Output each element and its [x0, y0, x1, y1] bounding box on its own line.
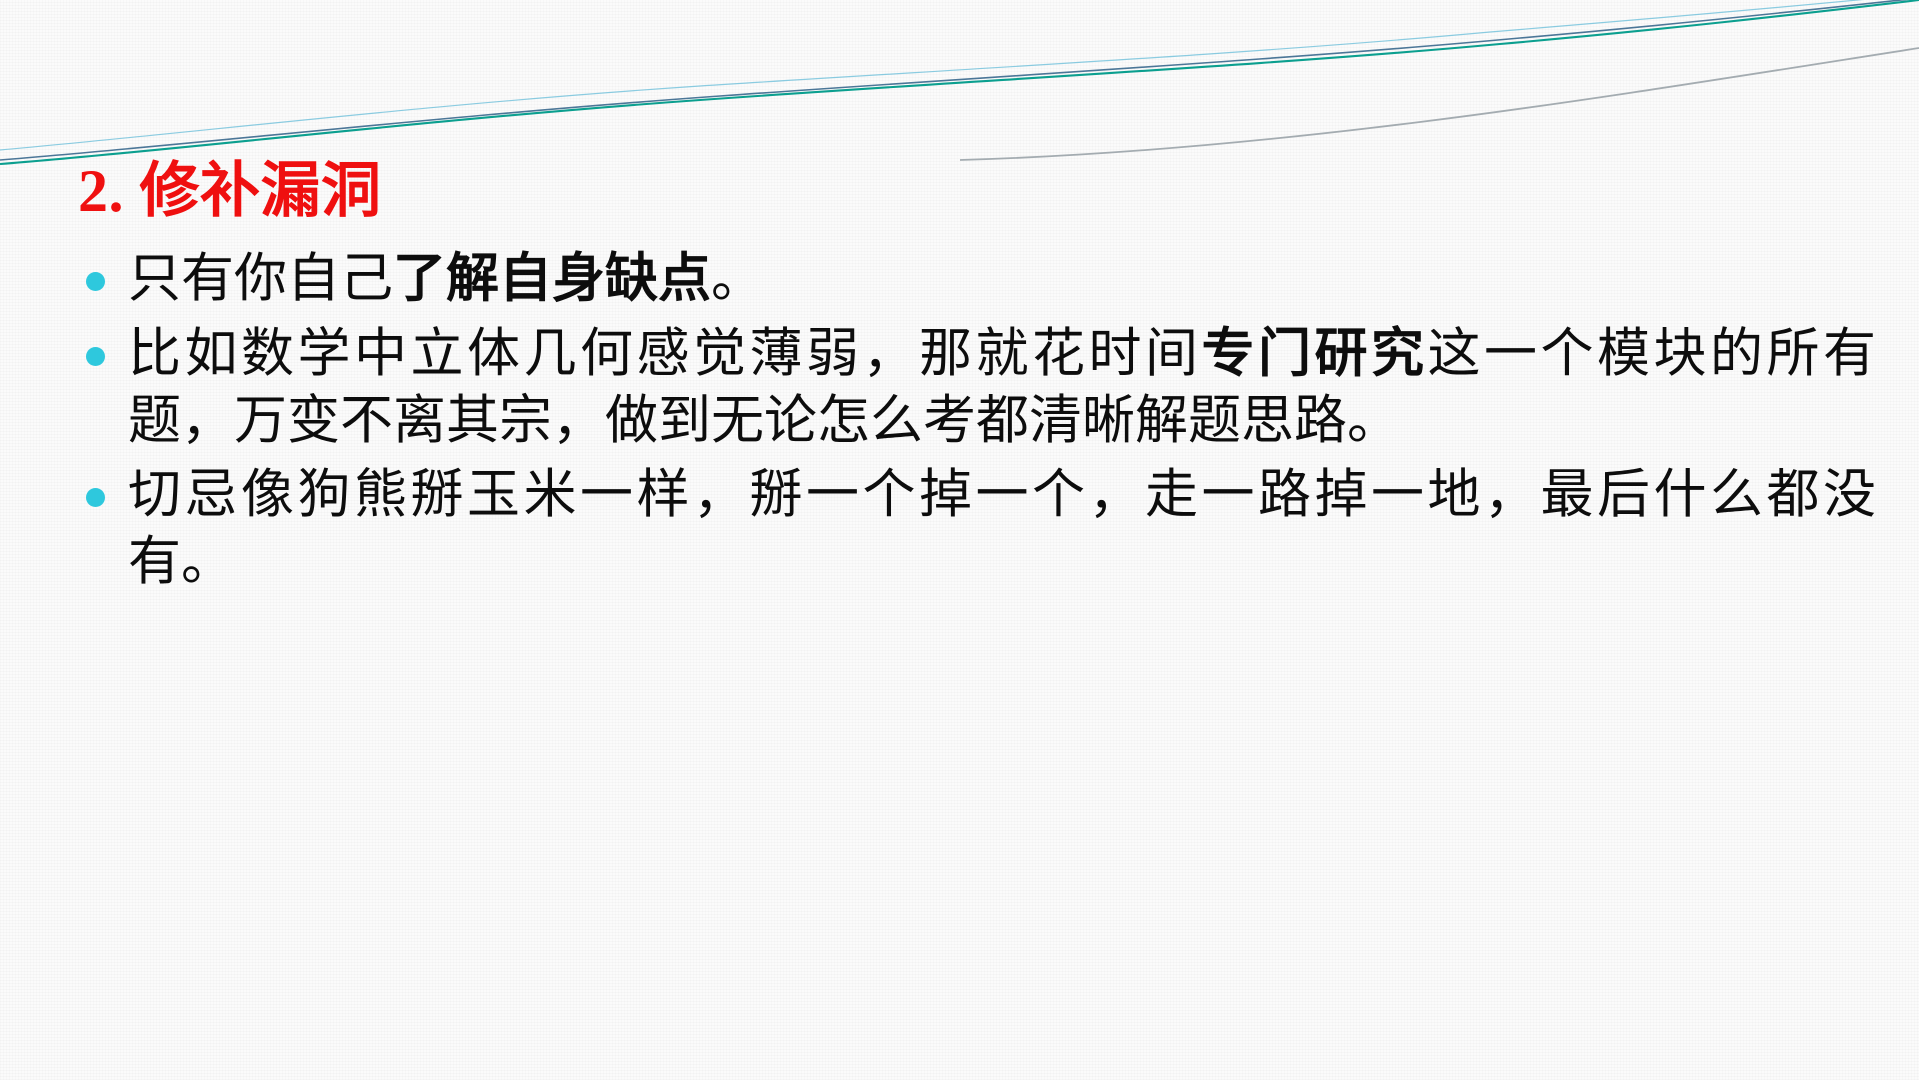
bullet-list: 只有你自己了解自身缺点。 比如数学中立体几何感觉薄弱，那就花时间专门研究这一个模… [86, 246, 1876, 596]
text-run: 只有你自己 [128, 250, 393, 308]
bullet-dot-icon [86, 347, 105, 366]
wave-line-grey [960, 48, 1919, 160]
title-block: 2. 修补漏洞 [78, 158, 1838, 225]
emphasis-run: 专门研究 [1202, 325, 1428, 383]
wave-line-navy [0, 0, 1919, 160]
list-item: 比如数学中立体几何感觉薄弱，那就花时间专门研究这一个模块的所有题，万变不离其宗，… [86, 321, 1876, 455]
wave-band-main [0, 0, 1919, 125]
list-item: 只有你自己了解自身缺点。 [86, 246, 1876, 313]
list-item: 切忌像狗熊掰玉米一样，掰一个掉一个，走一路掉一地，最后什么都没有。 [86, 462, 1876, 596]
slide-canvas: 2. 修补漏洞 只有你自己了解自身缺点。 比如数学中立体几何感觉薄弱，那就花时间… [0, 0, 1919, 1080]
bullet-marker [86, 321, 128, 366]
wave-band-secondary [1120, 0, 1919, 120]
bullet-dot-icon [86, 272, 105, 291]
bullet-marker [86, 462, 128, 507]
header-wave-decoration [0, 0, 1919, 165]
page-title: 2. 修补漏洞 [78, 158, 1838, 225]
bullet-text: 切忌像狗熊掰玉米一样，掰一个掉一个，走一路掉一地，最后什么都没有。 [128, 462, 1876, 596]
emphasis-run: 了解自身缺点 [393, 250, 711, 308]
bullet-dot-icon [86, 488, 105, 507]
bullet-marker [86, 246, 128, 291]
bullet-text: 比如数学中立体几何感觉薄弱，那就花时间专门研究这一个模块的所有题，万变不离其宗，… [128, 321, 1876, 455]
bullet-text: 只有你自己了解自身缺点。 [128, 246, 1876, 313]
text-run: 比如数学中立体几何感觉薄弱，那就花时间 [128, 325, 1202, 383]
text-run: 切忌像狗熊掰玉米一样，掰一个掉一个，走一路掉一地，最后什么都没有。 [128, 466, 1876, 591]
wave-line-teal [0, 0, 1919, 164]
wave-line-cyan [0, 0, 1919, 150]
wave-band-accent [1140, 52, 1919, 147]
text-run: 。 [711, 250, 764, 308]
